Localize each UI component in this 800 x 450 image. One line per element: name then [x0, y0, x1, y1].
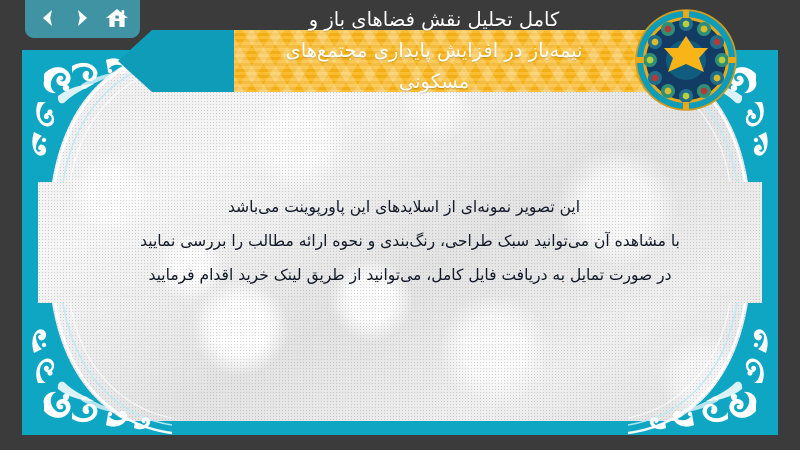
body-line-3: در صورت تمایل به دریافت فایل کامل، می‌تو…: [60, 258, 760, 292]
slide-title: کامل تحلیل نقش فضاهای باز و نیمه‌باز در …: [236, 4, 632, 97]
previous-slide-button[interactable]: [33, 3, 63, 33]
presentation-viewer: این تصویر نمونه‌ای از اسلایدهای این پاور…: [0, 0, 800, 450]
triangle-left-icon: [37, 7, 59, 29]
home-button[interactable]: [102, 3, 132, 33]
next-slide-button[interactable]: [67, 3, 97, 33]
slide-navigation-bar: [25, 0, 140, 38]
persian-medallion-ornament: [634, 8, 738, 112]
body-line-1: این تصویر نمونه‌ای از اسلایدهای این پاور…: [60, 190, 760, 224]
triangle-right-icon: [71, 7, 93, 29]
body-line-2: با مشاهده آن می‌توانید سبک طراحی، رنگ‌بن…: [60, 224, 760, 258]
home-icon: [105, 7, 129, 29]
slide-body-text: این تصویر نمونه‌ای از اسلایدهای این پاور…: [60, 190, 760, 292]
